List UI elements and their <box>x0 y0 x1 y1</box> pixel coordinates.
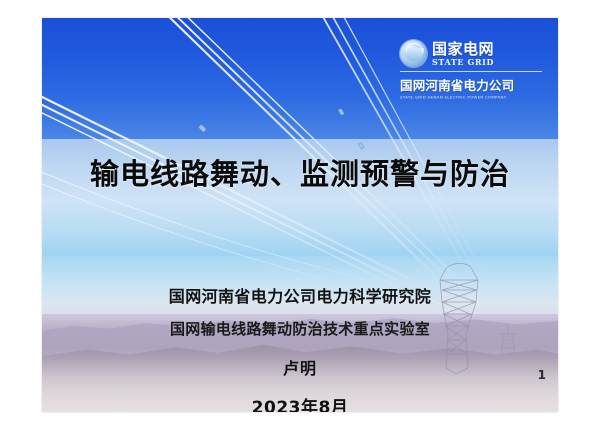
slide-subtitle-block: 国网河南省电力公司电力科学研究院 国网输电线路舞动防治技术重点实验室 卢明 20… <box>42 283 558 412</box>
logo-company-cn: 国网河南省电力公司 <box>400 75 545 94</box>
state-grid-logo: 国家电网 STATE GRID 国网河南省电力公司 STATE GRID HEN… <box>400 40 545 100</box>
logo-wordmark: 国家电网 STATE GRID <box>432 42 494 66</box>
logo-divider <box>400 71 542 72</box>
logo-company-en: STATE GRID HENAN ELECTRIC POWER COMPANY <box>400 95 545 100</box>
presentation-slide[interactable]: 国家电网 STATE GRID 国网河南省电力公司 STATE GRID HEN… <box>42 18 558 412</box>
logo-brand-cn: 国家电网 <box>432 42 494 57</box>
presenter-name: 卢明 <box>42 355 558 379</box>
page-number: 1 <box>538 368 546 382</box>
organization-line-2: 国网输电线路舞动防治技术重点实验室 <box>42 318 558 339</box>
presentation-date: 2023年8月 <box>42 393 558 412</box>
state-grid-globe-icon <box>400 40 427 67</box>
screenshot-canvas: 国家电网 STATE GRID 国网河南省电力公司 STATE GRID HEN… <box>0 0 600 425</box>
organization-line-1: 国网河南省电力公司电力科学研究院 <box>42 283 558 307</box>
logo-brand-en: STATE GRID <box>432 58 494 66</box>
logo-top-row: 国家电网 STATE GRID <box>400 40 545 67</box>
slide-title: 输电线路舞动、监测预警与防治 <box>42 151 558 193</box>
